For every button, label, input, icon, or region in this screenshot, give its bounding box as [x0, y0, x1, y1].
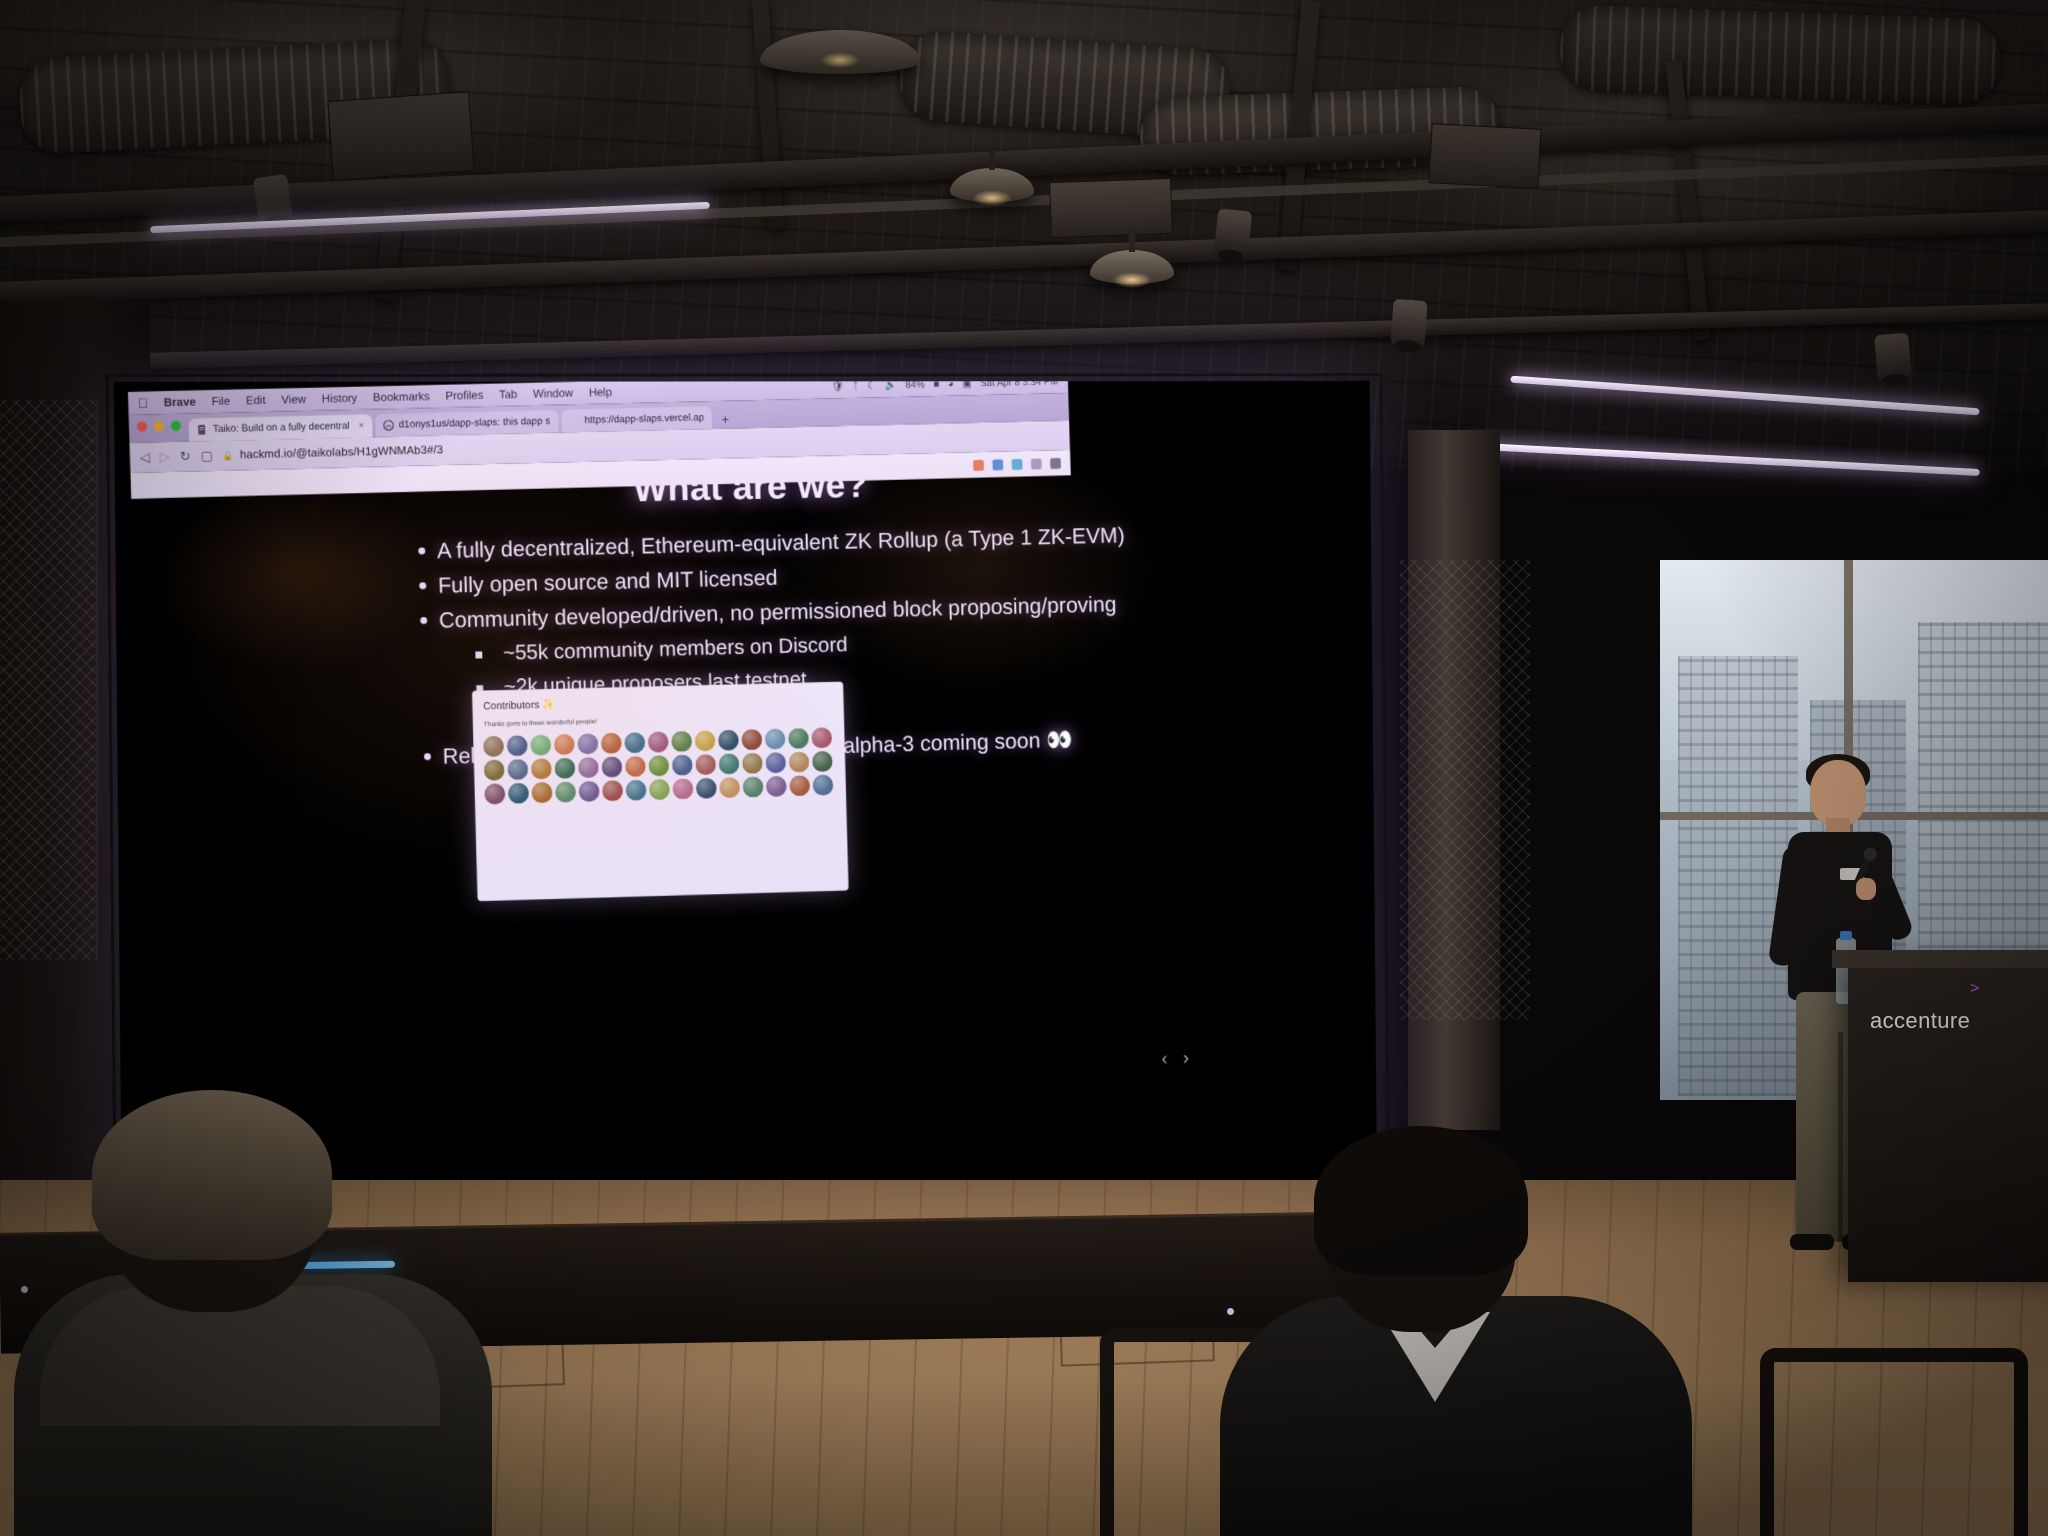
- bluetooth-icon[interactable]: ᛏ: [853, 381, 859, 392]
- forward-arrow-icon[interactable]: ▷: [160, 449, 170, 465]
- ceiling-spotlight: [1214, 208, 1253, 257]
- clock-label[interactable]: Sat Apr 8 3:34 PM: [980, 381, 1058, 389]
- puzzle-extension-icon[interactable]: [1031, 458, 1042, 469]
- address-bar-url: hackmd.io/@taikolabs/H1gWNMAb3#/3: [240, 444, 444, 461]
- contributor-avatar[interactable]: [531, 782, 552, 803]
- audience-hair: [1314, 1126, 1528, 1276]
- podium-logo: accenture: [1870, 1008, 1970, 1034]
- battery-percent-label: 84%: [905, 381, 925, 391]
- contributor-avatar[interactable]: [531, 758, 552, 779]
- ceiling-panel: [1429, 123, 1542, 189]
- contributor-avatar[interactable]: [507, 735, 528, 756]
- contributors-heading: Contributors ✨: [483, 690, 844, 712]
- audience-member-left: [30, 1086, 450, 1536]
- contributor-avatar[interactable]: [508, 783, 529, 804]
- ceiling-spotlight: [1390, 299, 1427, 347]
- globe-icon: [569, 415, 580, 426]
- bookmark-icon[interactable]: ▢: [200, 448, 213, 464]
- contributor-avatar[interactable]: [671, 731, 692, 752]
- shield-extension-icon[interactable]: [973, 459, 984, 470]
- next-slide-icon[interactable]: ›: [1183, 1048, 1190, 1070]
- contributor-avatar[interactable]: [695, 730, 716, 751]
- back-arrow-icon[interactable]: ◁: [140, 449, 150, 465]
- tab-title: d1onys1us/dapp-slaps: this dapp s: [399, 416, 551, 431]
- contributor-avatar[interactable]: [672, 755, 693, 776]
- contributor-avatar[interactable]: [812, 751, 833, 772]
- github-icon: [383, 420, 394, 431]
- contributor-avatar[interactable]: [578, 757, 599, 778]
- menu-item-edit[interactable]: Edit: [246, 394, 266, 406]
- scene-root: What are we? A fully decentralized, Ethe…: [0, 0, 2048, 1536]
- contributor-avatar[interactable]: [601, 756, 622, 777]
- contributor-avatar[interactable]: [483, 736, 504, 757]
- speaker-shoe: [1790, 1234, 1834, 1250]
- ceiling-duct: [1559, 4, 2002, 105]
- contributor-avatar[interactable]: [743, 776, 764, 797]
- contributor-avatar[interactable]: [718, 730, 739, 751]
- contributors-card: Contributors ✨ Thanks goes to these wond…: [472, 682, 849, 902]
- contributor-avatar[interactable]: [602, 780, 623, 801]
- menu-item-brave[interactable]: Brave: [164, 396, 196, 409]
- contributor-avatar-grid: [473, 719, 846, 813]
- contributor-avatar[interactable]: [742, 753, 763, 774]
- contributor-avatar[interactable]: [625, 756, 646, 777]
- slide-navigation[interactable]: ‹ ›: [1162, 1048, 1190, 1070]
- lock-icon: 🔒: [223, 450, 234, 461]
- window-controls[interactable]: [137, 421, 181, 432]
- audience-hair: [92, 1090, 332, 1260]
- prev-slide-icon[interactable]: ‹: [1162, 1049, 1169, 1071]
- contributor-avatar[interactable]: [507, 759, 528, 780]
- contributor-avatar[interactable]: [484, 759, 505, 780]
- contributor-avatar[interactable]: [624, 732, 645, 753]
- menu-item-window[interactable]: Window: [533, 387, 573, 400]
- ceiling-panel: [327, 91, 474, 181]
- menu-bar-status-area: 🛡 ᛏ ☾ 🔈 84% ■ ◕ ▣ Sat Apr 8 3:34 PM: [831, 381, 1058, 393]
- tab-title: Taiko: Build on a fully decentral: [213, 421, 350, 435]
- reload-icon[interactable]: ↻: [180, 448, 191, 464]
- speaker-head: [1810, 760, 1866, 826]
- contributor-avatar[interactable]: [811, 727, 832, 748]
- tab-title: https://dapp-slaps.vercel.ap: [584, 412, 704, 426]
- right-mesh-panel: [1400, 560, 1530, 1020]
- contributor-avatar[interactable]: [579, 781, 600, 802]
- contributor-avatar[interactable]: [789, 775, 810, 796]
- screen-mirroring-icon[interactable]: ▣: [962, 381, 971, 390]
- menu-icon[interactable]: [1050, 457, 1061, 468]
- contributor-avatar[interactable]: [741, 729, 762, 750]
- contributor-avatar[interactable]: [648, 755, 669, 776]
- contributor-avatar[interactable]: [577, 733, 598, 754]
- contributor-avatar[interactable]: [672, 778, 693, 799]
- menu-item-help[interactable]: Help: [589, 386, 613, 398]
- accenture-arrow-icon: >: [1970, 980, 1979, 998]
- apple-icon[interactable]: : [138, 396, 148, 411]
- ceiling-panel: [1049, 178, 1173, 238]
- minimize-window-button[interactable]: [154, 421, 164, 431]
- contributor-avatar[interactable]: [554, 758, 575, 779]
- contributor-avatar[interactable]: [601, 733, 622, 754]
- podium-top: [1832, 950, 2048, 968]
- contributor-avatar[interactable]: [648, 731, 669, 752]
- browser-window:  Brave File Edit View History Bookmarks…: [128, 381, 1073, 582]
- menu-item-file[interactable]: File: [211, 395, 230, 407]
- translate-extension-icon[interactable]: [1012, 458, 1023, 469]
- zoom-window-button[interactable]: [171, 421, 181, 431]
- contributor-avatar[interactable]: [719, 753, 740, 774]
- contributor-avatar[interactable]: [813, 775, 834, 796]
- contributor-avatar[interactable]: [695, 754, 716, 775]
- ceiling-spotlight: [253, 174, 293, 224]
- menu-item-view[interactable]: View: [281, 393, 306, 406]
- contributor-avatar[interactable]: [719, 777, 740, 798]
- document-icon: [197, 424, 208, 435]
- menu-item-tab[interactable]: Tab: [499, 389, 518, 401]
- contributor-avatar[interactable]: [649, 779, 670, 800]
- contributor-avatar[interactable]: [555, 781, 576, 802]
- ceiling-spotlight: [1874, 333, 1912, 382]
- wifi-icon[interactable]: ◕: [948, 381, 954, 390]
- speaker-hand: [1856, 878, 1876, 900]
- menu-item-bookmarks[interactable]: Bookmarks: [373, 391, 430, 404]
- contributor-avatar[interactable]: [765, 728, 786, 749]
- volume-icon[interactable]: 🔈: [884, 381, 896, 391]
- wallet-extension-icon[interactable]: [992, 459, 1003, 470]
- left-mesh-panel: [0, 400, 98, 960]
- podium: > accenture: [1848, 962, 2048, 1282]
- close-tab-icon[interactable]: ×: [358, 420, 364, 431]
- audience-member-right: [1230, 1126, 1650, 1536]
- contributor-avatar[interactable]: [696, 778, 717, 799]
- close-window-button[interactable]: [137, 422, 147, 432]
- contributor-avatar[interactable]: [554, 734, 575, 755]
- contributor-avatar[interactable]: [530, 734, 551, 755]
- new-tab-button[interactable]: +: [715, 412, 737, 429]
- contributor-avatar[interactable]: [766, 776, 787, 797]
- chair: [1760, 1348, 2028, 1536]
- do-not-disturb-moon-icon[interactable]: ☾: [867, 381, 876, 392]
- battery-icon[interactable]: ■: [933, 381, 939, 390]
- shield-icon[interactable]: 🛡: [831, 381, 844, 392]
- contributor-avatar[interactable]: [484, 783, 505, 804]
- contributor-avatar[interactable]: [789, 752, 810, 773]
- contributor-avatar[interactable]: [626, 780, 647, 801]
- menu-item-profiles[interactable]: Profiles: [445, 389, 483, 402]
- contributor-avatar[interactable]: [765, 752, 786, 773]
- contributor-avatar[interactable]: [788, 728, 809, 749]
- menu-item-history[interactable]: History: [322, 392, 358, 405]
